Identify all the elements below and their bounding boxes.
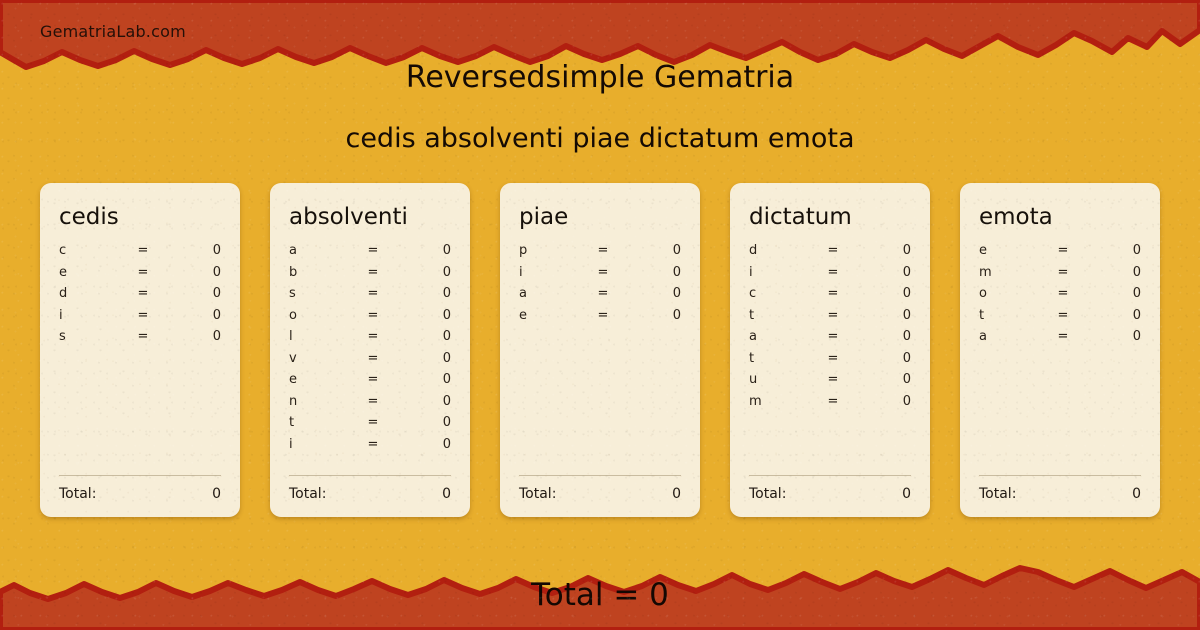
letter-row: c=0	[59, 243, 221, 265]
letter-row: e=0	[979, 243, 1141, 265]
letter-row: o=0	[979, 286, 1141, 308]
letter-value: 0	[855, 329, 911, 344]
equals-sign: =	[121, 243, 165, 258]
letter-char: i	[59, 308, 121, 323]
page-title: Reversedsimple Gematria	[0, 58, 1200, 98]
letter-char: c	[59, 243, 121, 258]
letter-value: 0	[1085, 265, 1141, 280]
letter-char: o	[289, 308, 351, 323]
letter-char: t	[289, 415, 351, 430]
card-total-value: 0	[212, 486, 221, 502]
letter-value: 0	[1085, 243, 1141, 258]
letter-char: n	[289, 394, 351, 409]
letter-value: 0	[1085, 329, 1141, 344]
equals-sign: =	[811, 308, 855, 323]
equals-sign: =	[351, 415, 395, 430]
letter-row: t=0	[979, 308, 1141, 330]
word-card: dictatumd=0i=0c=0t=0a=0t=0u=0m=0Total:0	[730, 183, 930, 517]
equals-sign: =	[351, 329, 395, 344]
letter-value: 0	[855, 308, 911, 323]
phrase-subtitle: cedis absolventi piae dictatum emota	[0, 120, 1200, 158]
card-total-value: 0	[902, 486, 911, 502]
grand-total: Total = 0	[0, 577, 1200, 613]
letter-value-list: e=0m=0o=0t=0a=0	[979, 243, 1141, 475]
equals-sign: =	[1041, 329, 1085, 344]
equals-sign: =	[1041, 265, 1085, 280]
letter-row: m=0	[979, 265, 1141, 287]
card-divider	[979, 475, 1141, 476]
letter-value: 0	[395, 265, 451, 280]
card-total-row: Total:0	[519, 486, 681, 517]
letter-row: s=0	[289, 286, 451, 308]
equals-sign: =	[351, 243, 395, 258]
letter-value: 0	[855, 265, 911, 280]
letter-char: l	[289, 329, 351, 344]
letter-row: s=0	[59, 329, 221, 351]
letter-char: t	[979, 308, 1041, 323]
letter-row: i=0	[289, 437, 451, 459]
card-divider	[289, 475, 451, 476]
card-word-title: piae	[519, 203, 681, 231]
card-word-title: cedis	[59, 203, 221, 231]
letter-row: o=0	[289, 308, 451, 330]
letter-char: p	[519, 243, 581, 258]
equals-sign: =	[581, 286, 625, 301]
letter-char: e	[519, 308, 581, 323]
letter-char: c	[749, 286, 811, 301]
letter-char: i	[519, 265, 581, 280]
equals-sign: =	[351, 351, 395, 366]
letter-value-list: p=0i=0a=0e=0	[519, 243, 681, 475]
letter-char: b	[289, 265, 351, 280]
letter-value: 0	[395, 394, 451, 409]
letter-value: 0	[395, 308, 451, 323]
letter-char: a	[979, 329, 1041, 344]
letter-value: 0	[625, 243, 681, 258]
letter-value: 0	[165, 243, 221, 258]
letter-value-list: c=0e=0d=0i=0s=0	[59, 243, 221, 475]
letter-value: 0	[165, 329, 221, 344]
letter-char: t	[749, 351, 811, 366]
word-card: piaep=0i=0a=0e=0Total:0	[500, 183, 700, 517]
letter-row: d=0	[59, 286, 221, 308]
letter-char: e	[979, 243, 1041, 258]
letter-value-list: d=0i=0c=0t=0a=0t=0u=0m=0	[749, 243, 911, 475]
equals-sign: =	[811, 265, 855, 280]
equals-sign: =	[811, 351, 855, 366]
card-word-title: emota	[979, 203, 1141, 231]
letter-value: 0	[855, 243, 911, 258]
equals-sign: =	[121, 286, 165, 301]
letter-row: a=0	[519, 286, 681, 308]
letter-row: e=0	[59, 265, 221, 287]
card-divider	[749, 475, 911, 476]
equals-sign: =	[811, 286, 855, 301]
card-divider	[59, 475, 221, 476]
letter-char: u	[749, 372, 811, 387]
letter-row: b=0	[289, 265, 451, 287]
letter-char: a	[289, 243, 351, 258]
letter-row: t=0	[749, 308, 911, 330]
equals-sign: =	[811, 372, 855, 387]
equals-sign: =	[581, 308, 625, 323]
equals-sign: =	[351, 308, 395, 323]
letter-value: 0	[395, 329, 451, 344]
equals-sign: =	[811, 329, 855, 344]
letter-row: d=0	[749, 243, 911, 265]
letter-value: 0	[395, 372, 451, 387]
equals-sign: =	[1041, 308, 1085, 323]
letter-char: o	[979, 286, 1041, 301]
letter-row: a=0	[289, 243, 451, 265]
word-card: cedisc=0e=0d=0i=0s=0Total:0	[40, 183, 240, 517]
card-total-value: 0	[1132, 486, 1141, 502]
letter-value: 0	[165, 265, 221, 280]
card-word-title: dictatum	[749, 203, 911, 231]
card-total-label: Total:	[519, 486, 672, 502]
letter-char: m	[749, 394, 811, 409]
letter-row: n=0	[289, 394, 451, 416]
letter-char: i	[749, 265, 811, 280]
equals-sign: =	[1041, 243, 1085, 258]
equals-sign: =	[581, 243, 625, 258]
letter-char: a	[749, 329, 811, 344]
letter-value: 0	[855, 372, 911, 387]
letter-char: s	[289, 286, 351, 301]
card-total-value: 0	[442, 486, 451, 502]
header: Reversedsimple Gematria cedis absolventi…	[0, 58, 1200, 158]
letter-row: t=0	[749, 351, 911, 373]
letter-row: c=0	[749, 286, 911, 308]
equals-sign: =	[121, 265, 165, 280]
word-cards: cedisc=0e=0d=0i=0s=0Total:0absolventia=0…	[40, 183, 1160, 517]
card-total-row: Total:0	[59, 486, 221, 517]
letter-char: e	[59, 265, 121, 280]
card-total-row: Total:0	[289, 486, 451, 517]
letter-value: 0	[395, 243, 451, 258]
letter-row: u=0	[749, 372, 911, 394]
letter-value: 0	[625, 265, 681, 280]
letter-char: a	[519, 286, 581, 301]
word-card: absolventia=0b=0s=0o=0l=0v=0e=0n=0t=0i=0…	[270, 183, 470, 517]
site-logo[interactable]: GematriaLab.com	[40, 22, 186, 41]
letter-row: v=0	[289, 351, 451, 373]
letter-char: i	[289, 437, 351, 452]
letter-row: a=0	[979, 329, 1141, 351]
card-total-value: 0	[672, 486, 681, 502]
equals-sign: =	[121, 308, 165, 323]
letter-value: 0	[625, 286, 681, 301]
letter-char: v	[289, 351, 351, 366]
equals-sign: =	[351, 372, 395, 387]
equals-sign: =	[351, 286, 395, 301]
letter-char: m	[979, 265, 1041, 280]
letter-char: e	[289, 372, 351, 387]
letter-row: p=0	[519, 243, 681, 265]
equals-sign: =	[581, 265, 625, 280]
letter-row: e=0	[289, 372, 451, 394]
letter-value: 0	[625, 308, 681, 323]
letter-char: s	[59, 329, 121, 344]
card-divider	[519, 475, 681, 476]
letter-char: t	[749, 308, 811, 323]
letter-value: 0	[395, 437, 451, 452]
letter-char: d	[59, 286, 121, 301]
card-total-label: Total:	[749, 486, 902, 502]
card-total-label: Total:	[59, 486, 212, 502]
letter-value: 0	[855, 351, 911, 366]
letter-row: m=0	[749, 394, 911, 416]
card-total-row: Total:0	[749, 486, 911, 517]
equals-sign: =	[351, 394, 395, 409]
letter-row: e=0	[519, 308, 681, 330]
card-total-row: Total:0	[979, 486, 1141, 517]
card-total-label: Total:	[289, 486, 442, 502]
letter-value: 0	[855, 286, 911, 301]
letter-value: 0	[855, 394, 911, 409]
letter-value: 0	[1085, 286, 1141, 301]
word-card: emotae=0m=0o=0t=0a=0Total:0	[960, 183, 1160, 517]
letter-row: i=0	[519, 265, 681, 287]
letter-value-list: a=0b=0s=0o=0l=0v=0e=0n=0t=0i=0	[289, 243, 451, 475]
letter-row: l=0	[289, 329, 451, 351]
equals-sign: =	[811, 394, 855, 409]
letter-row: i=0	[59, 308, 221, 330]
equals-sign: =	[1041, 286, 1085, 301]
letter-value: 0	[165, 308, 221, 323]
letter-row: a=0	[749, 329, 911, 351]
letter-value: 0	[395, 351, 451, 366]
equals-sign: =	[351, 437, 395, 452]
letter-value: 0	[395, 415, 451, 430]
letter-row: i=0	[749, 265, 911, 287]
letter-value: 0	[395, 286, 451, 301]
card-word-title: absolventi	[289, 203, 451, 231]
letter-row: t=0	[289, 415, 451, 437]
letter-value: 0	[1085, 308, 1141, 323]
equals-sign: =	[121, 329, 165, 344]
letter-value: 0	[165, 286, 221, 301]
letter-char: d	[749, 243, 811, 258]
equals-sign: =	[351, 265, 395, 280]
card-total-label: Total:	[979, 486, 1132, 502]
equals-sign: =	[811, 243, 855, 258]
